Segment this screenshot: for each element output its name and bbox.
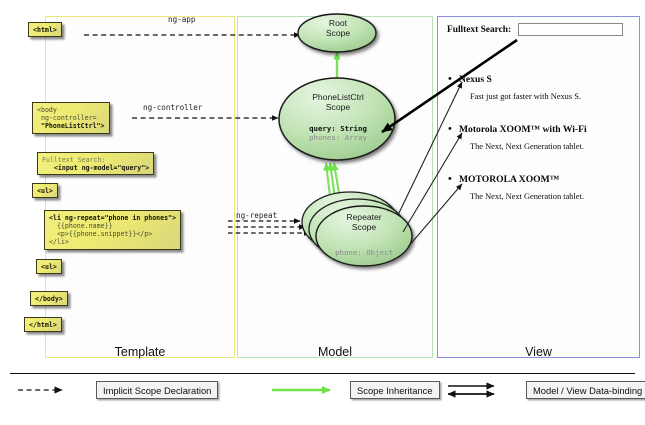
code-text-search-input: <input ng-model="query"> <box>42 164 149 172</box>
code-box-ul-open: <ul> <box>32 183 58 198</box>
phone-snippet: The Next, Next Generation tablet. <box>470 192 637 201</box>
green-arrow-icon <box>282 380 344 400</box>
code-text-li-line3: <p>{{phone.snippet}}</p> <box>49 230 152 238</box>
phonelistctrl-scope-ellipse <box>279 78 395 160</box>
code-text-body-line2: ng-controller= <box>37 114 97 122</box>
double-arrow-icon <box>458 380 520 400</box>
wire-ng-repeat <box>228 221 310 233</box>
legend-label: Implicit Scope Declaration <box>96 381 218 399</box>
search-input[interactable] <box>518 23 623 36</box>
legend-divider <box>10 373 635 374</box>
root-scope-ellipse <box>298 14 376 52</box>
panel-label-template: Template <box>45 341 235 363</box>
view-search-label: Fulltext Search: <box>447 25 511 35</box>
code-text-ul-close: <ul> <box>41 263 57 271</box>
code-text-search-label: Fulltext Search: <box>42 156 106 164</box>
code-text-body-line1: <body <box>37 106 57 114</box>
repeater-scope-ellipse <box>316 206 412 266</box>
legend-item-model-view-data-binding: Model / View Data-binding <box>458 378 645 402</box>
code-text-li-line1: <li ng-repeat="phone in phones"> <box>49 214 176 222</box>
view-content: Fulltext Search: Nexus S Fast just got f… <box>437 16 640 358</box>
code-text-ul-open: <ul> <box>37 187 53 195</box>
wire-label-ng-controller: ng-controller <box>143 103 202 112</box>
legend-label: Scope Inheritance <box>350 381 440 399</box>
code-box-ul-close: <ul> <box>36 259 62 274</box>
phone-name: MOTOROLA XOOM™ <box>459 174 637 185</box>
code-text-li-line4: </li> <box>49 238 69 246</box>
code-text-body-close: </body> <box>35 295 63 303</box>
list-item: Nexus S Fast just got faster with Nexus … <box>459 74 637 101</box>
code-box-li-repeat: <li ng-repeat="phone in phones"> {{phone… <box>44 210 181 250</box>
code-box-body-open: <body ng-controller= "PhoneListCtrl"> <box>32 102 110 134</box>
list-item: Motorola XOOM™ with Wi-Fi The Next, Next… <box>459 124 637 151</box>
code-box-html-open: <html> <box>28 22 62 37</box>
diagram-root: <html> <body ng-controller= "PhoneListCt… <box>0 0 645 425</box>
wire-label-ng-repeat: ng-repeat <box>236 211 277 220</box>
panel-label-model: Model <box>237 341 433 363</box>
list-item: MOTOROLA XOOM™ The Next, Next Generation… <box>459 174 637 201</box>
phone-name: Nexus S <box>459 74 637 85</box>
code-box-html-close: </html> <box>24 317 62 332</box>
phone-snippet: Fast just got faster with Nexus S. <box>470 92 637 101</box>
phone-name: Motorola XOOM™ with Wi-Fi <box>459 124 637 135</box>
code-box-body-close: </body> <box>30 291 68 306</box>
legend-item-scope-inheritance: Scope Inheritance <box>282 378 440 402</box>
dashed-arrow-icon <box>28 380 90 400</box>
legend-label: Model / View Data-binding <box>526 381 645 399</box>
legend: Implicit Scope Declaration Scope Inherit… <box>10 378 635 414</box>
phone-snippet: The Next, Next Generation tablet. <box>470 142 637 151</box>
code-text-body-line3: "PhoneListCtrl"> <box>37 122 105 130</box>
code-text-html-close: </html> <box>29 321 57 329</box>
panel-label-view: View <box>437 341 640 363</box>
code-box-search-input: Fulltext Search: <input ng-model="query"… <box>37 152 154 175</box>
wire-label-ng-app: ng-app <box>168 15 195 24</box>
code-text-li-line2: {{phone.name}} <box>49 222 113 230</box>
legend-item-implicit-scope-declaration: Implicit Scope Declaration <box>28 378 218 402</box>
code-text-html-open: <html> <box>33 26 57 34</box>
